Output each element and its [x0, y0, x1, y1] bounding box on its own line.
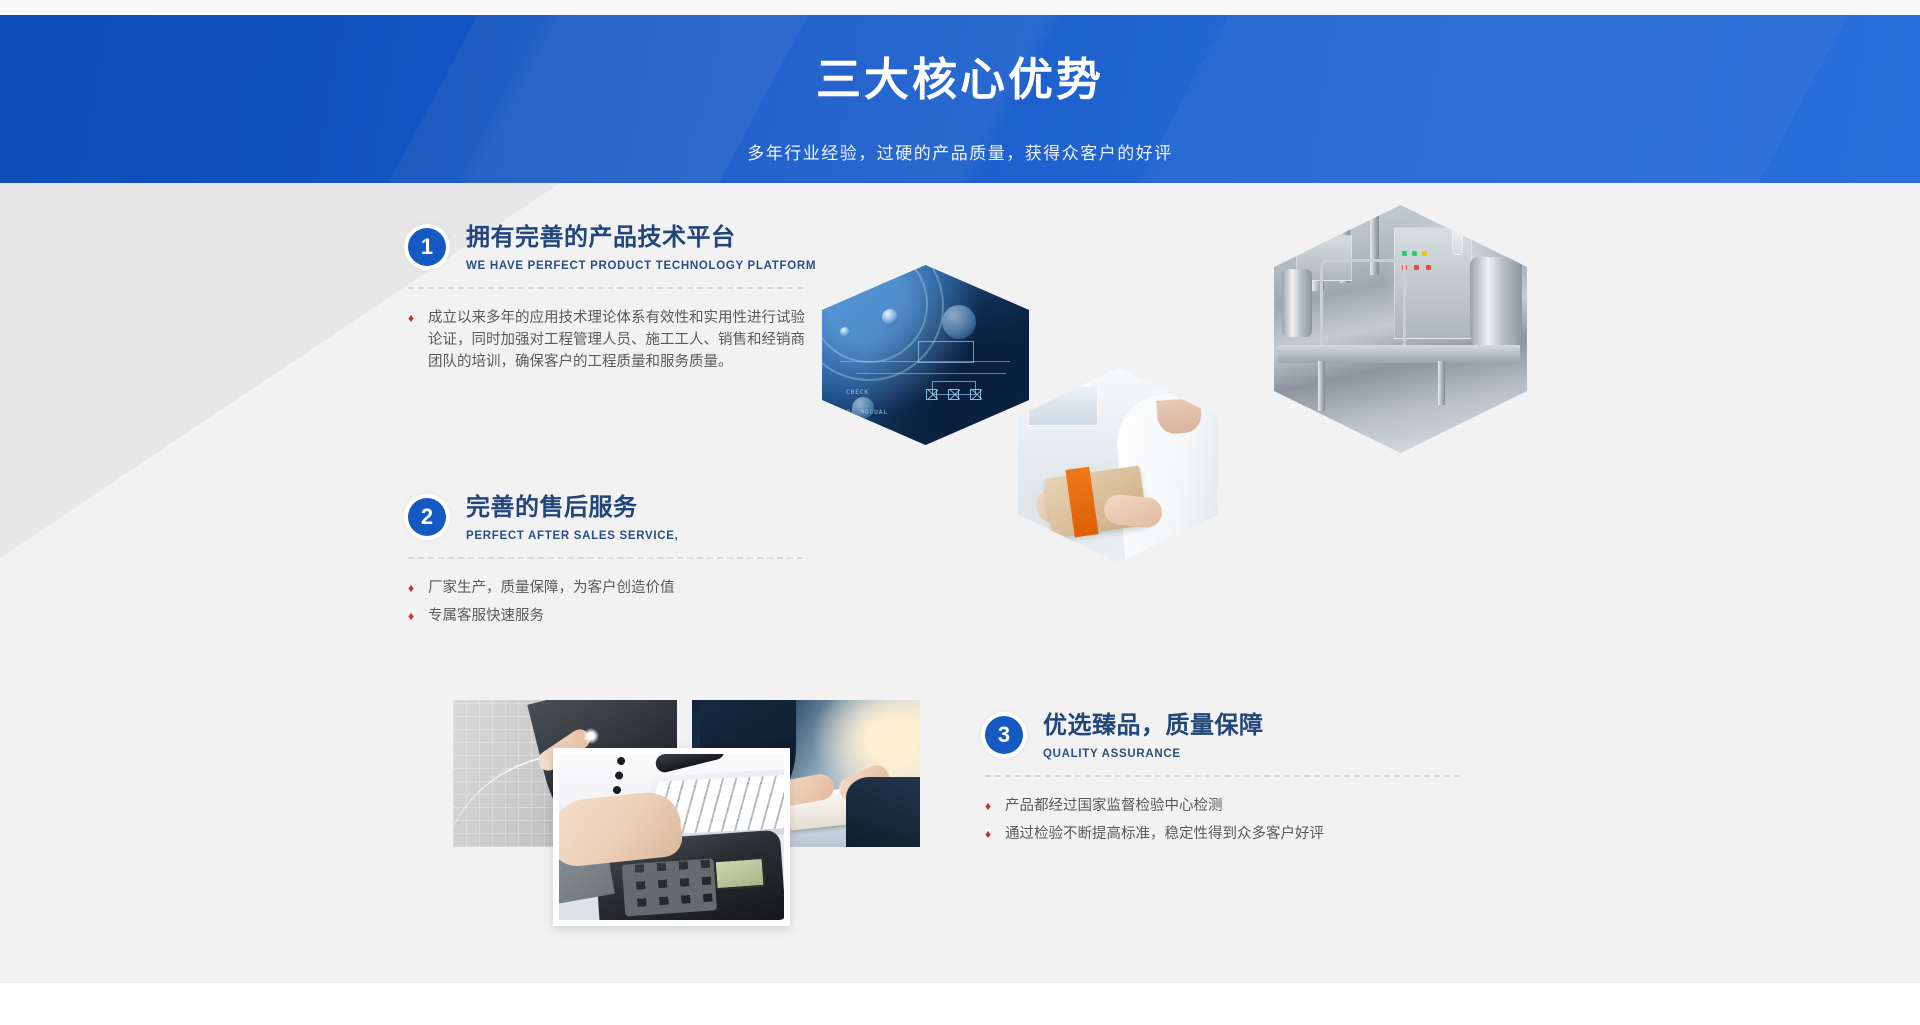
feature-block-2: 2 完善的售后服务 PERFECT AFTER SALES SERVICE, 厂… [408, 495, 828, 633]
equipment-indicator-light [1422, 251, 1427, 256]
tech-hud-box [918, 341, 974, 363]
tech-node [942, 305, 976, 339]
list-item: 厂家生产，质量保障，为客户创造价值 [408, 577, 828, 599]
list-item: 成立以来多年的应用技术理论体系有效性和实用性进行试验论证，同时加强对工程管理人员… [408, 307, 808, 373]
equipment-tank [1282, 269, 1312, 337]
equipment-handrail [1320, 259, 1406, 345]
equipment-platform [1278, 345, 1520, 363]
phone-lcd-screen [714, 857, 766, 890]
tech-cross-icon [948, 389, 959, 400]
feature-1-divider [408, 287, 803, 289]
feature-2-subtitle-en: PERFECT AFTER SALES SERVICE, [466, 530, 679, 543]
feature-2-divider [408, 557, 803, 559]
feature-1-bullet-list: 成立以来多年的应用技术理论体系有效性和实用性进行试验论证，同时加强对工程管理人员… [408, 307, 808, 373]
tech-cross-icon [926, 389, 937, 400]
feature-3-heading: 3 优选臻品，质量保障 QUALITY ASSURANCE [985, 713, 1465, 761]
feature-block-1: 1 拥有完善的产品技术平台 WE HAVE PERFECT PRODUCT TE… [408, 225, 828, 379]
list-item: 产品都经过国家监督检验中心检测 [985, 795, 1465, 817]
advantages-page: 三大核心优势 多年行业经验，过硬的产品质量，获得众客户的好评 1 拥有完善的产品… [0, 0, 1920, 1025]
feature-1-heading-texts: 拥有完善的产品技术平台 WE HAVE PERFECT PRODUCT TECH… [466, 225, 816, 273]
page-header-banner: 三大核心优势 多年行业经验，过硬的产品质量，获得众客户的好评 [0, 15, 1920, 183]
feature-2-number-badge: 2 [408, 498, 446, 536]
equipment-indicator-light [1426, 265, 1431, 270]
equipment-indicator-light [1414, 265, 1419, 270]
feature-1-title: 拥有完善的产品技术平台 [466, 225, 816, 251]
tech-gridline [856, 373, 1006, 374]
feature-2-heading: 2 完善的售后服务 PERFECT AFTER SALES SERVICE, [408, 495, 828, 543]
page-subtitle: 多年行业经验，过硬的产品质量，获得众客户的好评 [0, 145, 1920, 162]
feature-3-bullet-list: 产品都经过国家监督检验中心检测 通过检验不断提高标准，稳定性得到众多客户好评 [985, 795, 1465, 845]
list-item: 通过检验不断提高标准，稳定性得到众多客户好评 [985, 823, 1465, 845]
feature-1-heading: 1 拥有完善的产品技术平台 WE HAVE PERFECT PRODUCT TE… [408, 225, 828, 273]
feature-3-divider [985, 775, 1460, 777]
equipment-tank [1470, 257, 1522, 349]
feature-1-number-badge: 1 [408, 228, 446, 266]
feature-2-title: 完善的售后服务 [466, 495, 679, 521]
phone-keypad [622, 858, 717, 916]
feature-3-number-badge: 3 [985, 716, 1023, 754]
feature-1-subtitle-en: WE HAVE PERFECT PRODUCT TECHNOLOGY PLATF… [466, 260, 816, 273]
photo-desk-phone-dialing [553, 748, 790, 926]
feature-2-bullet-list: 厂家生产，质量保障，为客户创造价值 专属客服快速服务 [408, 577, 828, 627]
feature-2-heading-texts: 完善的售后服务 PERFECT AFTER SALES SERVICE, [466, 495, 679, 543]
top-white-strip [0, 0, 1920, 15]
list-item: 专属客服快速服务 [408, 605, 828, 627]
fingertip-glow [583, 728, 599, 744]
feature-3-title: 优选臻品，质量保障 [1043, 713, 1264, 739]
feature-block-3: 3 优选臻品，质量保障 QUALITY ASSURANCE 产品都经过国家监督检… [985, 713, 1465, 851]
equipment-leg [1438, 361, 1445, 405]
equipment-indicator-light [1402, 251, 1407, 256]
tech-hud-label: CHECK [846, 389, 869, 396]
tech-node [840, 327, 850, 337]
equipment-leg [1318, 361, 1325, 411]
dialing-hand [553, 789, 684, 868]
tech-node [882, 309, 898, 325]
feature-3-heading-texts: 优选臻品，质量保障 QUALITY ASSURANCE [1043, 713, 1264, 761]
signing-person-suit-right [846, 777, 920, 847]
feature-3-subtitle-en: QUALITY ASSURANCE [1043, 748, 1264, 761]
tech-cross-icon [970, 389, 981, 400]
equipment-indicator-light [1412, 251, 1417, 256]
page-title: 三大核心优势 [0, 57, 1920, 102]
